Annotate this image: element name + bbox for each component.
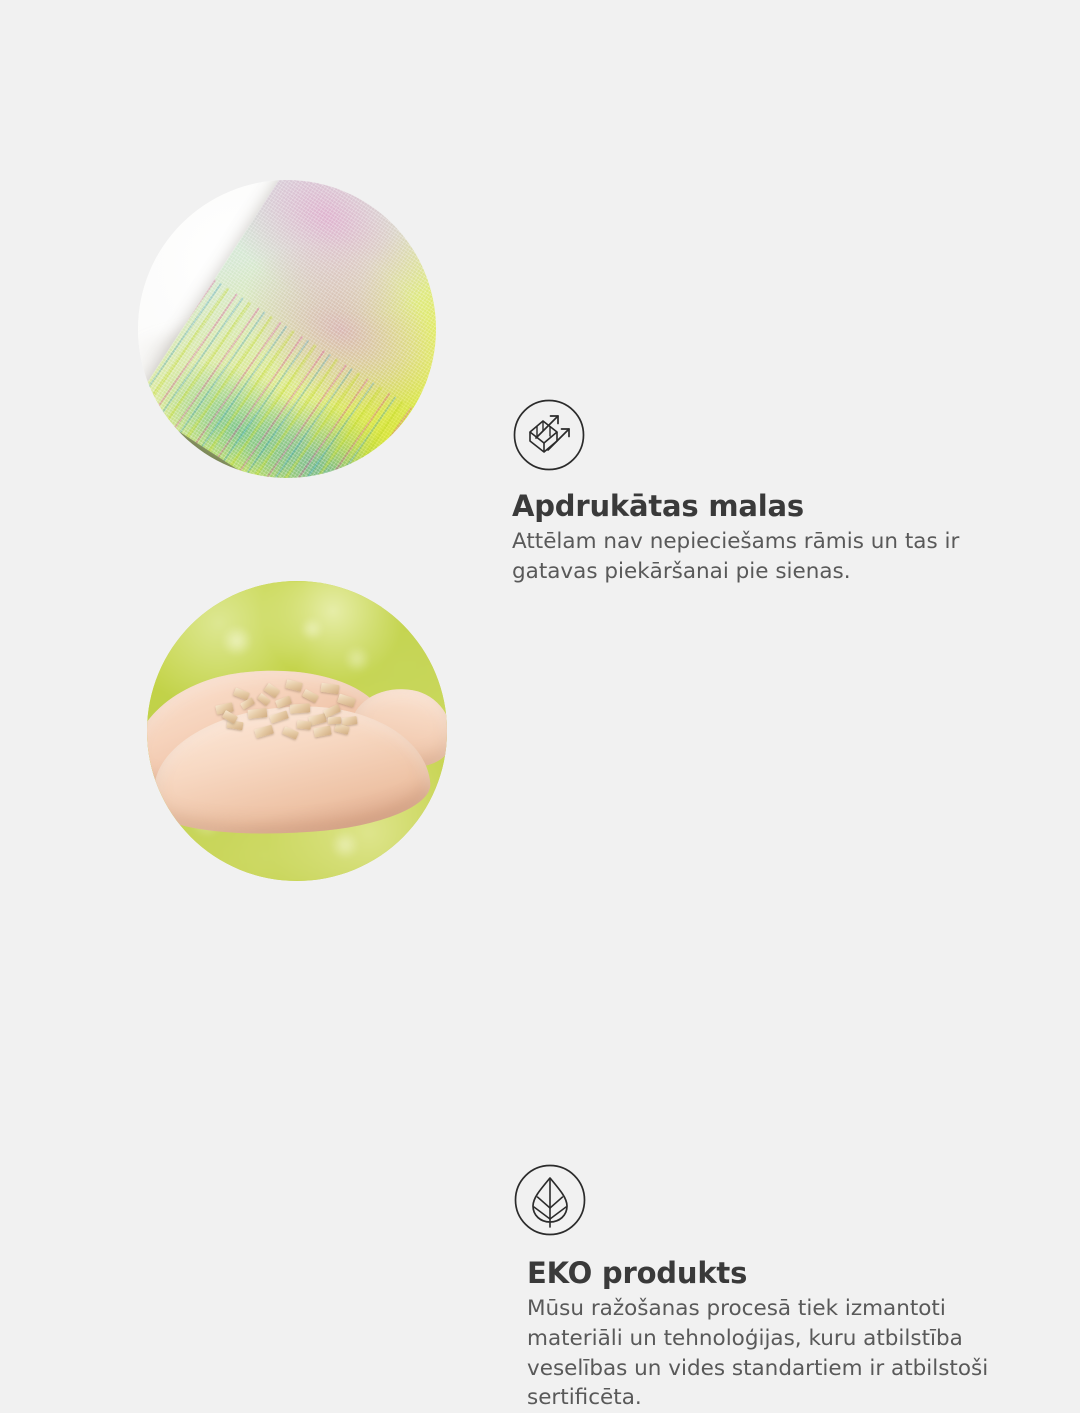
- printed-canvas-edge-icon: [512, 398, 586, 472]
- feature-title: Apdrukātas malas: [512, 490, 1012, 522]
- wood-chip: [257, 693, 271, 706]
- wood-chip: [320, 683, 339, 694]
- wood-chip: [270, 711, 290, 724]
- wood-chip: [289, 703, 310, 713]
- feature-description: Mūsu ražošanas procesā tiek izmantoti ma…: [527, 1294, 1017, 1413]
- wood-chip: [328, 717, 341, 724]
- feature-infographic-page: Apdrukātas malas Attēlam nav nepieciešam…: [0, 0, 1080, 1080]
- wood-chips-pile: [213, 671, 387, 767]
- feature-text-printed-edges: Apdrukātas malas Attēlam nav nepieciešam…: [512, 490, 1012, 587]
- wood-chip: [296, 720, 311, 729]
- feature-row-eco-product: EKO produkts Mūsu ražošanas procesā tiek…: [0, 575, 1080, 895]
- canvas-print-corner-photo: [138, 180, 436, 478]
- hands-holding-wood-chips-photo: [147, 581, 447, 881]
- wood-chip: [285, 679, 303, 692]
- feature-text-eco-product: EKO produkts Mūsu ražošanas procesā tiek…: [527, 1257, 1017, 1413]
- wood-chip: [337, 694, 356, 708]
- wood-chip: [302, 689, 319, 703]
- wood-chip: [313, 725, 331, 737]
- wood-chip: [254, 724, 274, 738]
- leaf-icon: [513, 1163, 587, 1237]
- feature-title: EKO produkts: [527, 1257, 1017, 1289]
- wood-chip: [247, 708, 267, 719]
- feature-row-printed-edges: Apdrukātas malas Attēlam nav nepieciešam…: [0, 170, 1080, 520]
